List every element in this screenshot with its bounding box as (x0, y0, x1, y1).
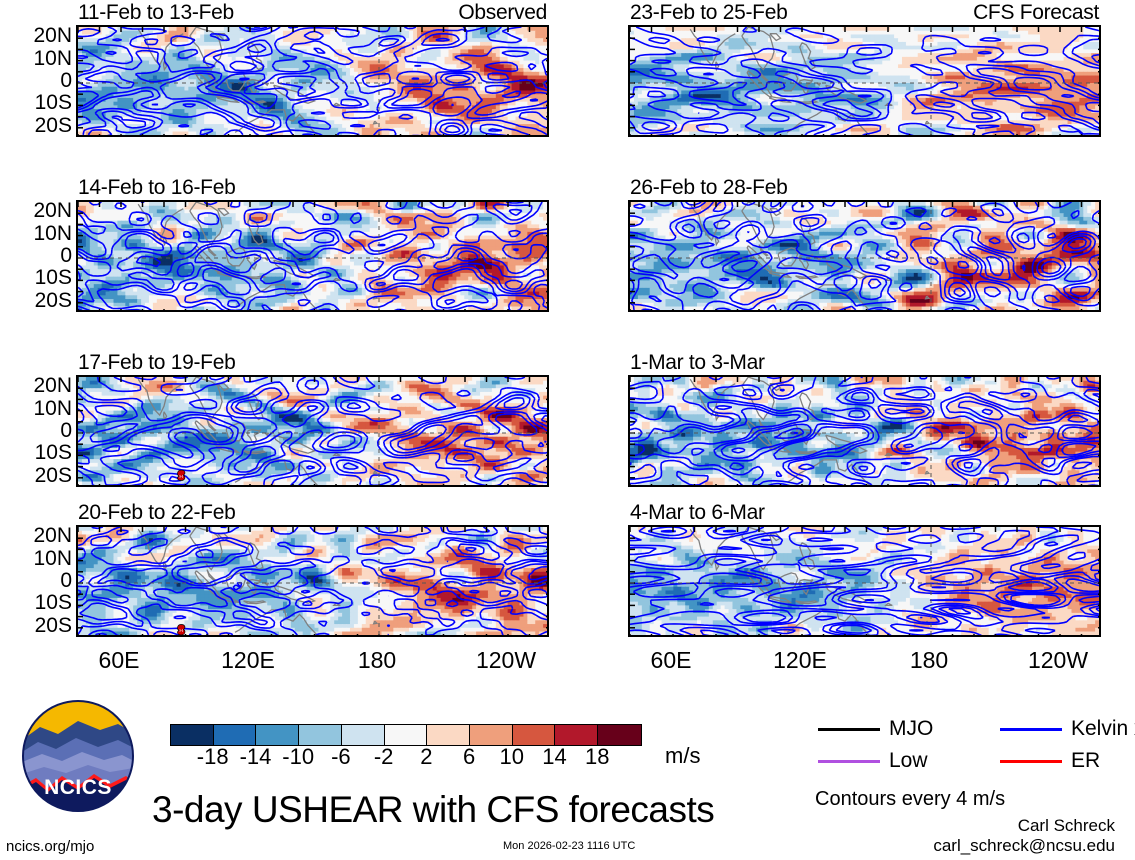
legend-line-swatch (1000, 760, 1062, 763)
colorbar-tick-label: -10 (274, 744, 322, 770)
y-tick-label: 0 (2, 70, 72, 91)
panel-title: 23-Feb to 25-Feb (630, 1, 787, 25)
main-title: 3-day USHEAR with CFS forecasts (152, 789, 714, 831)
y-tick-label: 10S (2, 267, 72, 288)
y-tick-label: 0 (2, 245, 72, 266)
panel-field-graphic (630, 27, 1101, 137)
legend-line-swatch (818, 760, 880, 763)
colorbar-tick-label: -18 (189, 744, 237, 770)
map-panel: 23-Feb to 25-FebCFS Forecast (628, 25, 1101, 137)
panel-plot-area: H (76, 525, 549, 637)
y-tick-label: 20N (2, 525, 72, 546)
ncics-logo: NCICS (22, 700, 134, 812)
panel-plot-area (628, 200, 1101, 312)
legend-item: ER (1000, 749, 1100, 773)
x-tick-label: 120W (462, 647, 550, 674)
panel-field-graphic: H (78, 377, 549, 487)
contour-interval-note: Contours every 4 m/s (815, 788, 1005, 811)
y-tick-label: 10N (2, 223, 72, 244)
panel-plot-area: H (76, 375, 549, 487)
x-tick-label: 60E (627, 647, 715, 674)
panel-plot-area (76, 200, 549, 312)
panel-title: 17-Feb to 19-Feb (78, 351, 235, 375)
x-tick-label: 120E (204, 647, 292, 674)
map-panel: 20-Feb to 22-Feb H (76, 525, 549, 637)
panel-field-graphic (78, 27, 549, 137)
panel-plot-area (628, 375, 1101, 487)
y-tick-label: 10N (2, 48, 72, 69)
timestamp: Mon 2026-02-23 1116 UTC (503, 840, 635, 852)
panel-field-graphic: H (78, 527, 549, 637)
y-tick-label: 20S (2, 615, 72, 636)
author-email: carl_schreck@ncsu.edu (770, 836, 1115, 856)
site-url: ncics.org/mjo (6, 838, 94, 855)
colorbar-tick-label: 14 (531, 744, 579, 770)
y-tick-label: 0 (2, 420, 72, 441)
y-tick-label: 20S (2, 115, 72, 136)
map-panel: 11-Feb to 13-FebObserved (76, 25, 549, 137)
colorbar-tick-label: 10 (488, 744, 536, 770)
panel-field-graphic (78, 202, 549, 312)
panel-title: 20-Feb to 22-Feb (78, 501, 235, 525)
legend-item: Low (818, 749, 928, 773)
colorbar-bin (299, 725, 342, 745)
y-tick-label: 0 (2, 570, 72, 591)
colorbar-bin (214, 725, 257, 745)
map-panel: 26-Feb to 28-Feb (628, 200, 1101, 312)
panel-title: 11-Feb to 13-Feb (78, 1, 234, 25)
y-tick-label: 20N (2, 25, 72, 46)
y-tick-label: 20N (2, 200, 72, 221)
colorbar-tick-label: -14 (232, 744, 280, 770)
colorbar-bin (256, 725, 299, 745)
figure-root: 20N10N010S20S20N10N010S20S20N10N010S20S2… (0, 0, 1135, 860)
colorbar-tick-label: 18 (573, 744, 621, 770)
legend-label: MJO (889, 717, 933, 741)
panel-title: 14-Feb to 16-Feb (78, 176, 235, 200)
legend-label: ER (1071, 749, 1100, 773)
panel-y-axis: 20N10N010S20S (0, 25, 72, 137)
x-tick-label: 120E (756, 647, 844, 674)
panel-field-graphic (630, 527, 1101, 637)
legend-label: Kelvin x2 (1071, 717, 1135, 741)
map-panel: 17-Feb to 19-Feb H (76, 375, 549, 487)
x-tick-label: 60E (75, 647, 163, 674)
map-panel: 4-Mar to 6-Mar (628, 525, 1101, 637)
y-tick-label: 20N (2, 375, 72, 396)
y-tick-label: 10N (2, 548, 72, 569)
colorbar-tick-label: 2 (402, 744, 450, 770)
colorbar-tick-label: -6 (317, 744, 365, 770)
colorbar-tick-label: 6 (445, 744, 493, 770)
x-tick-label: 120W (1014, 647, 1102, 674)
panel-title: 4-Mar to 6-Mar (630, 501, 765, 525)
colorbar-tick-label: -2 (360, 744, 408, 770)
colorbar (170, 724, 642, 746)
panel-title: 1-Mar to 3-Mar (630, 351, 765, 375)
map-panel: 1-Mar to 3-Mar (628, 375, 1101, 487)
y-tick-label: 20S (2, 465, 72, 486)
colorbar-bin (513, 725, 556, 745)
y-tick-label: 10S (2, 92, 72, 113)
panel-field-graphic (630, 377, 1101, 487)
colorbar-bin (171, 725, 214, 745)
colorbar-bin (427, 725, 470, 745)
y-tick-label: 10N (2, 398, 72, 419)
y-tick-label: 10S (2, 442, 72, 463)
y-tick-label: 10S (2, 592, 72, 613)
ncics-logo-label: NCICS (22, 776, 134, 800)
colorbar-unit-label: m/s (665, 743, 700, 769)
colorbar-bin (598, 725, 641, 745)
panel-plot-area (628, 25, 1101, 137)
panel-y-axis: 20N10N010S20S (0, 375, 72, 487)
x-tick-label: 180 (885, 647, 973, 674)
colorbar-bin (385, 725, 428, 745)
panel-field-graphic (630, 202, 1101, 312)
panel-corner-label: Observed (458, 1, 547, 25)
legend-label: Low (889, 749, 928, 773)
panel-y-axis: 20N10N010S20S (0, 200, 72, 312)
colorbar-bin (470, 725, 513, 745)
panel-y-axis: 20N10N010S20S (0, 525, 72, 637)
y-tick-label: 20S (2, 290, 72, 311)
panel-plot-area (628, 525, 1101, 637)
legend-item: Kelvin x2 (1000, 717, 1135, 741)
author-name: Carl Schreck (770, 816, 1115, 836)
legend-line-swatch (818, 728, 880, 731)
panel-plot-area (76, 25, 549, 137)
map-panel: 14-Feb to 16-Feb (76, 200, 549, 312)
legend-line-swatch (1000, 728, 1062, 731)
colorbar-bin (555, 725, 598, 745)
colorbar-bin (342, 725, 385, 745)
x-tick-label: 180 (333, 647, 421, 674)
legend-item: MJO (818, 717, 933, 741)
panel-corner-label: CFS Forecast (973, 1, 1099, 25)
panel-title: 26-Feb to 28-Feb (630, 176, 787, 200)
